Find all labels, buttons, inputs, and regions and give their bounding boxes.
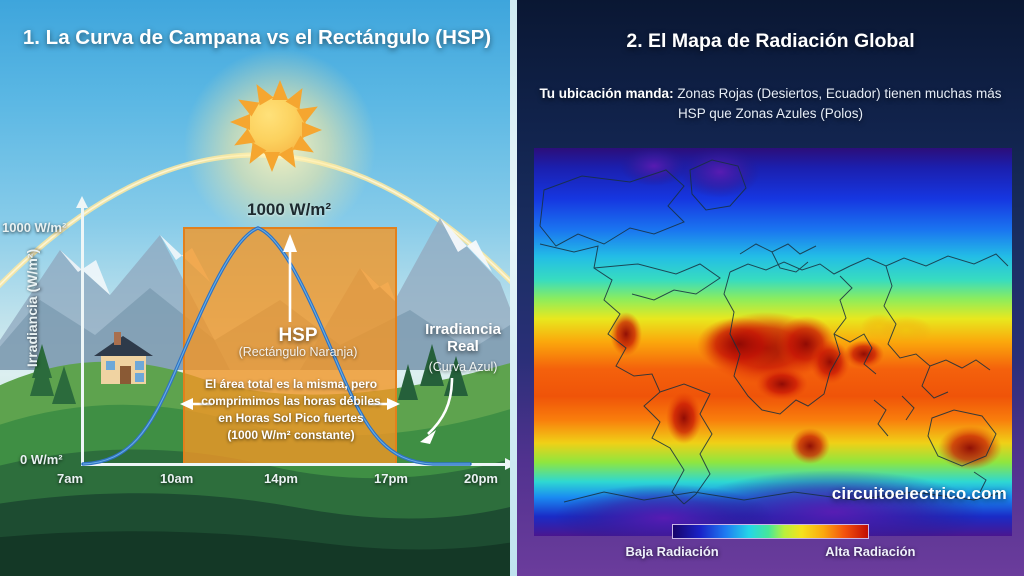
watermark: circuitoelectrico.com (832, 484, 1007, 504)
left-panel-hsp-chart: 1. La Curva de Campana vs el Rectángulo … (0, 0, 514, 576)
y-axis (81, 208, 84, 466)
right-panel-subtitle: Tu ubicación manda: Zonas Rojas (Desiert… (533, 84, 1008, 124)
legend-high-label: Alta Radiación (825, 544, 915, 559)
right-panel-radiation-map: 2. El Mapa de Radiación Global Tu ubicac… (517, 0, 1024, 576)
y-tick-min: 0 W/m² (20, 452, 63, 467)
y-axis-title: Irradiancia (W/m²) (24, 228, 40, 388)
x-tick-7am: 7am (57, 471, 83, 486)
sun-ray (302, 122, 322, 138)
heatmap-svg (534, 148, 1012, 536)
y-tick-max: 1000 W/m² (2, 220, 66, 235)
real-irradiance-label: Irradiancia Real (413, 322, 513, 356)
legend-colorbar (672, 524, 869, 539)
real-irradiance-line-1: Irradiancia (425, 321, 501, 338)
legend-low-label: Baja Radiación (626, 544, 719, 559)
panel-divider (510, 0, 517, 576)
legend-labels: Baja Radiación Alta Radiación (626, 544, 916, 559)
subtitle-emphasis: Tu ubicación manda: (540, 86, 674, 101)
sun-icon (228, 78, 324, 174)
left-panel-title: 1. La Curva de Campana vs el Rectángulo … (0, 26, 514, 50)
real-irradiance-line-2: Real (447, 338, 479, 355)
radiation-legend: Baja Radiación Alta Radiación (517, 524, 1024, 559)
sun-ray (272, 80, 288, 100)
x-tick-20pm: 20pm (464, 471, 498, 486)
x-tick-14pm: 14pm (264, 471, 298, 486)
hsp-explanation-line-2: comprimimos las horas débiles (201, 394, 380, 408)
hsp-sublabel: (Rectángulo Naranja) (215, 345, 381, 359)
hsp-explanation-line-3: en Horas Sol Pico fuertes (218, 411, 363, 425)
hsp-explanation: El área total es la misma, pero comprimi… (182, 376, 400, 444)
x-tick-17pm: 17pm (374, 471, 408, 486)
sun-ray (264, 152, 280, 172)
sun-ray (230, 114, 250, 130)
hsp-explanation-line-4: (1000 W/m² constante) (227, 428, 354, 442)
real-irradiance-sublabel: (Curva Azul) (413, 360, 513, 374)
infographic-stage: 1. La Curva de Campana vs el Rectángulo … (0, 0, 1024, 576)
hsp-label: HSP (238, 325, 358, 347)
subtitle-rest: Zonas Rojas (Desiertos, Ecuador) tienen … (674, 86, 1002, 121)
house-illustration (86, 328, 158, 390)
peak-value-label: 1000 W/m² (247, 200, 331, 220)
hsp-explanation-line-1: El área total es la misma, pero (205, 377, 377, 391)
x-tick-10am: 10am (160, 471, 193, 486)
right-panel-title: 2. El Mapa de Radiación Global (517, 30, 1024, 53)
global-radiation-heatmap (534, 148, 1012, 536)
x-axis (81, 463, 514, 466)
y-axis-arrow-icon (74, 196, 90, 210)
